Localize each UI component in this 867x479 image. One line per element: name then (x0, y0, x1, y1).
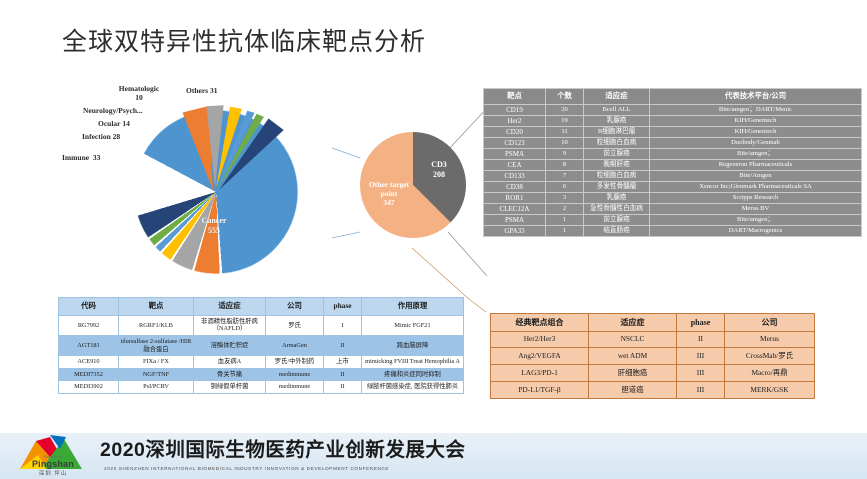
pie-label-cd3: CD3 208 (418, 160, 460, 179)
table-row: Ang2/VEGFAwet ADMIIICrossMab/罗氏 (491, 348, 815, 365)
bispecific-antibody-table: 代码 靶点 适应症 公司 phase 作用原理 RG7992RGRF1/KLB非… (58, 297, 464, 394)
cell-mechanism: 跨血脑屏障 (362, 335, 464, 355)
pie-label-others: Others 31 (186, 86, 217, 95)
cell-phase: II (324, 368, 362, 381)
pie-label-ocular: Ocular 14 (98, 119, 130, 128)
cell-target-combo: Ang2/VEGFA (491, 348, 589, 365)
cell-indication: 溶酶体贮积症 (194, 335, 266, 355)
cell-target: CD19 (484, 104, 546, 115)
table-row: ROR13乳腺癌Scripps Research (484, 192, 862, 203)
cell-mechanism: 绿脓杆菌感染症, 医院获得性肺炎 (362, 381, 464, 394)
col-indication: 适应症 (584, 89, 650, 105)
cell-target: CD123 (484, 137, 546, 148)
logo-en: Pingshan (16, 459, 90, 469)
table-row: CD2011B细胞淋巴瘤KIH/Genentech (484, 126, 862, 137)
table-row: Her219乳腺癌KIH/Genentech (484, 115, 862, 126)
cell-company: Bite/amgen；DART/Menic (650, 104, 862, 115)
cell-code: MEDI3902 (59, 381, 119, 394)
cell-count: 3 (546, 192, 584, 203)
col-company: 公司 (266, 298, 324, 316)
cell-target: ROR1 (484, 192, 546, 203)
col-target: 靶点 (484, 89, 546, 105)
cell-code: MEDI7352 (59, 368, 119, 381)
page-title: 全球双特异性抗体临床靶点分析 (62, 22, 426, 58)
table-row: AGT181idursulfase 2-sulfatase /HIR融合蛋白溶酶… (59, 335, 464, 355)
cell-target: FIXa / FX (119, 356, 194, 369)
cell-phase: II (677, 331, 725, 348)
col-company: 公司 (725, 314, 815, 332)
cell-phase: III (677, 365, 725, 382)
table-row: PSMA9前立腺癌Bite/amgen； (484, 148, 862, 159)
pie-label-neurology: Neurology/Psych... (83, 106, 143, 115)
cell-company: 罗氏/中外制药 (266, 356, 324, 369)
cell-mechanism: Mimic FGF21 (362, 315, 464, 335)
cell-phase: II (324, 335, 362, 355)
cell-target: PSMA (484, 214, 546, 225)
col-target: 靶点 (119, 298, 194, 316)
cell-company: KIH/Genentech (650, 115, 862, 126)
cell-indication: 非酒精性脂肪性肝病（NAFLD） (194, 315, 266, 335)
col-phase: phase (324, 298, 362, 316)
cell-indication: 骨关节痛 (194, 368, 266, 381)
conference-title-cn: 2020深圳国际生物医药产业创新发展大会 (100, 433, 465, 462)
col-platform-company: 代表技术平台/公司 (650, 89, 862, 105)
cell-company: CrossMab/罗氏 (725, 348, 815, 365)
table-row: RG7992RGRF1/KLB非酒精性脂肪性肝病（NAFLD）罗氏IMimic … (59, 315, 464, 335)
cell-company: MERK/GSK (725, 382, 815, 399)
cell-target: GPA33 (484, 226, 546, 237)
cell-company: Scripps Research (650, 192, 862, 203)
col-mechanism: 作用原理 (362, 298, 464, 316)
targets-table: 靶点 个数 适应症 代表技术平台/公司 CD1920Bcell ALLBite/… (483, 88, 862, 237)
table-row: CD386多发性骨髓瘤Xencor Inc;Glenmark Pharmaceu… (484, 181, 862, 192)
cell-count: 8 (546, 159, 584, 170)
cell-target: RGRF1/KLB (119, 315, 194, 335)
cell-code: AGT181 (59, 335, 119, 355)
cell-target: Her2 (484, 115, 546, 126)
slide-footer: Shenzhen Pingshan 深圳 坪山 2020深圳国际生物医药产业创新… (0, 433, 867, 479)
cell-indication: 血友病A (194, 356, 266, 369)
cell-phase: 上市 (324, 356, 362, 369)
cell-count: 10 (546, 137, 584, 148)
slide-canvas: 全球双特异性抗体临床靶点分析 Cancer 555 Hematologic 10 (0, 0, 867, 479)
pie-label-hematologic: Hematologic 10 (104, 84, 174, 102)
cell-indication: 粒细胞白血病 (584, 137, 650, 148)
cell-indication: 铜绿假单杆菌 (194, 381, 266, 394)
cell-target-combo: Her2/Her3 (491, 331, 589, 348)
table-row: LAG3/PD-1肝细胞癌IIIMacro/再鼎 (491, 365, 815, 382)
cell-code: RG7992 (59, 315, 119, 335)
cell-target-combo: PD-L1/TGF-β (491, 382, 589, 399)
table-header-row: 代码 靶点 适应症 公司 phase 作用原理 (59, 298, 464, 316)
cell-phase: I (324, 315, 362, 335)
cell-target: idursulfase 2-sulfatase /HIR融合蛋白 (119, 335, 194, 355)
pie-label-other-target: Other target point 347 (360, 180, 418, 207)
table-header-row: 经典靶点组合 适应症 phase 公司 (491, 314, 815, 332)
cell-company: 罗氏 (266, 315, 324, 335)
table-row: PD-L1/TGF-β胆道癌IIIMERK/GSK (491, 382, 815, 399)
cell-target: CLEC12A (484, 203, 546, 214)
table-row: PSMA1前立腺癌Bite/amgen； (484, 214, 862, 225)
cell-count: 2 (546, 203, 584, 214)
cell-phase: III (677, 348, 725, 365)
cell-indication: 肝细胞癌 (589, 365, 677, 382)
cell-target: CEA (484, 159, 546, 170)
cell-indication: wet ADM (589, 348, 677, 365)
col-count: 个数 (546, 89, 584, 105)
cell-company: Merus (725, 331, 815, 348)
cell-indication: NSCLC (589, 331, 677, 348)
classic-target-combo-table: 经典靶点组合 适应症 phase 公司 Her2/Her3NSCLCIIMeru… (490, 313, 815, 399)
cell-indication: 晚期肝癌 (584, 159, 650, 170)
col-phase: phase (677, 314, 725, 332)
cell-phase: III (677, 382, 725, 399)
table-row: GPA331结直肠癌DART/Macrogenics (484, 226, 862, 237)
cell-mechanism: 疼痛和炎症同时抑制 (362, 368, 464, 381)
cell-company: Regeneron Pharmaceuticals (650, 159, 862, 170)
table-row: MEDI7352NGF/TNF骨关节痛medimmuneII疼痛和炎症同时抑制 (59, 368, 464, 381)
cell-code: ACE910 (59, 356, 119, 369)
cell-indication: 急性骨髓性白血病 (584, 203, 650, 214)
cell-company: Bite/amgen； (650, 148, 862, 159)
cell-indication: B细胞淋巴瘤 (584, 126, 650, 137)
cell-count: 7 (546, 170, 584, 181)
table-row: MEDI3902PsI/PCRV铜绿假单杆菌medimmuneII绿脓杆菌感染症… (59, 381, 464, 394)
cell-phase: II (324, 381, 362, 394)
cell-count: 11 (546, 126, 584, 137)
cell-indication: 前立腺癌 (584, 214, 650, 225)
cell-company: medimmune (266, 381, 324, 394)
cell-count: 6 (546, 181, 584, 192)
col-indication: 适应症 (589, 314, 677, 332)
cell-indication: 前立腺癌 (584, 148, 650, 159)
cell-company: Xencor Inc;Glenmark Pharmaceuticals SA (650, 181, 862, 192)
table-row: Her2/Her3NSCLCIIMerus (491, 331, 815, 348)
cell-company: KIH/Genentech (650, 126, 862, 137)
table-row: CLEC12A2急性骨髓性白血病Merus BV (484, 203, 862, 214)
cell-company: Bite/Amgen (650, 170, 862, 181)
cell-target-combo: LAG3/PD-1 (491, 365, 589, 382)
table-header-row: 靶点 个数 适应症 代表技术平台/公司 (484, 89, 862, 105)
cell-company: Bite/amgen； (650, 214, 862, 225)
table-row: ACE910FIXa / FX血友病A罗氏/中外制药上市mimicking FV… (59, 356, 464, 369)
col-target-combo: 经典靶点组合 (491, 314, 589, 332)
target-pie-chart: CD3 208 Other target point 347 (352, 128, 472, 248)
cell-indication: 粒细胞白血病 (584, 170, 650, 181)
cell-company: Duobody/Genmab (650, 137, 862, 148)
cell-mechanism: mimicking FVIII Treat Hemophilia A (362, 356, 464, 369)
cell-indication: 多发性骨髓瘤 (584, 181, 650, 192)
pie-label-immune: Immune 33 (62, 153, 100, 162)
cell-company: ArmaGen (266, 335, 324, 355)
cell-company: medimmune (266, 368, 324, 381)
table-row: CEA8晚期肝癌Regeneron Pharmaceuticals (484, 159, 862, 170)
logo-wordmark: Shenzhen Pingshan 深圳 坪山 (16, 454, 90, 477)
cell-count: 9 (546, 148, 584, 159)
cell-indication: 乳腺癌 (584, 192, 650, 203)
pie-exploded-slices (96, 88, 346, 288)
cell-count: 1 (546, 214, 584, 225)
cell-indication: 乳腺癌 (584, 115, 650, 126)
cell-count: 19 (546, 115, 584, 126)
conference-title-en: 2020 SHENZHEN INTERNATIONAL BIOMEDICAL I… (104, 466, 389, 471)
cell-indication: 结直肠癌 (584, 226, 650, 237)
cell-target: NGF/TNF (119, 368, 194, 381)
cell-target: PsI/PCRV (119, 381, 194, 394)
col-code: 代码 (59, 298, 119, 316)
cell-indication: Bcell ALL (584, 104, 650, 115)
cell-indication: 胆道癌 (589, 382, 677, 399)
table-row: CD12310粒细胞白血病Duobody/Genmab (484, 137, 862, 148)
table-row: CD1920Bcell ALLBite/amgen；DART/Menic (484, 104, 862, 115)
pie-label-infection: Infection 28 (82, 132, 120, 141)
cell-target: CD133 (484, 170, 546, 181)
logo-cn: 深圳 坪山 (16, 469, 90, 477)
cell-company: Macro/再鼎 (725, 365, 815, 382)
cell-target: CD20 (484, 126, 546, 137)
cell-target: CD38 (484, 181, 546, 192)
cell-company: DART/Macrogenics (650, 226, 862, 237)
col-indication: 适应症 (194, 298, 266, 316)
cell-company: Merus BV (650, 203, 862, 214)
table-row: CD1337粒细胞白血病Bite/Amgen (484, 170, 862, 181)
cell-count: 1 (546, 226, 584, 237)
cell-count: 20 (546, 104, 584, 115)
cell-target: PSMA (484, 148, 546, 159)
